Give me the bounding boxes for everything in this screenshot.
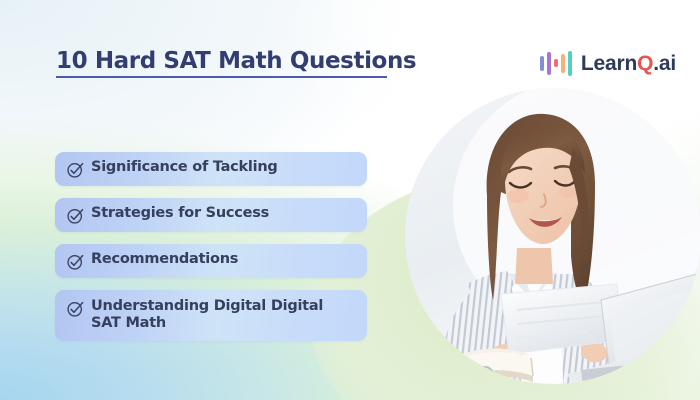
list-item-label: Understanding Digital Digital SAT Math: [91, 298, 355, 332]
brand-logo[interactable]: LearnQ.ai: [540, 48, 676, 78]
list-item-label: Significance of Tackling: [91, 159, 278, 176]
list-item-label: Strategies for Success: [91, 205, 269, 222]
header: 10 Hard SAT Math Questions LearnQ.ai: [0, 22, 700, 74]
check-circle-icon: [66, 299, 85, 318]
checklist: Significance of Tackling Strategies for …: [55, 152, 367, 353]
list-item[interactable]: Strategies for Success: [55, 198, 367, 232]
check-circle-icon: [66, 160, 85, 179]
list-item-label: Recommendations: [91, 251, 238, 268]
logo-bar-2: [547, 52, 551, 75]
infographic-canvas: 10 Hard SAT Math Questions LearnQ.ai Sig…: [0, 0, 700, 400]
student-photo-illustration: [405, 88, 700, 384]
photo-circle-mask: [405, 88, 700, 384]
hero-photo: [405, 88, 700, 384]
logo-word-learn: Learn: [581, 52, 637, 75]
logo-bar-5: [568, 51, 572, 76]
list-item[interactable]: Significance of Tackling: [55, 152, 367, 186]
logo-wordmark: LearnQ.ai: [581, 53, 676, 74]
logo-word-ai: .ai: [653, 52, 676, 75]
check-circle-icon: [66, 252, 85, 271]
title-underline: [56, 76, 387, 78]
page-title: 10 Hard SAT Math Questions: [56, 48, 416, 74]
list-item[interactable]: Understanding Digital Digital SAT Math: [55, 290, 367, 341]
logo-bar-3: [554, 59, 558, 67]
logo-bar-1: [540, 56, 544, 71]
list-item[interactable]: Recommendations: [55, 244, 367, 278]
logo-bars-icon: [540, 50, 572, 76]
logo-letter-q: Q: [637, 52, 653, 75]
check-circle-icon: [66, 206, 85, 225]
logo-bar-4: [561, 54, 565, 73]
